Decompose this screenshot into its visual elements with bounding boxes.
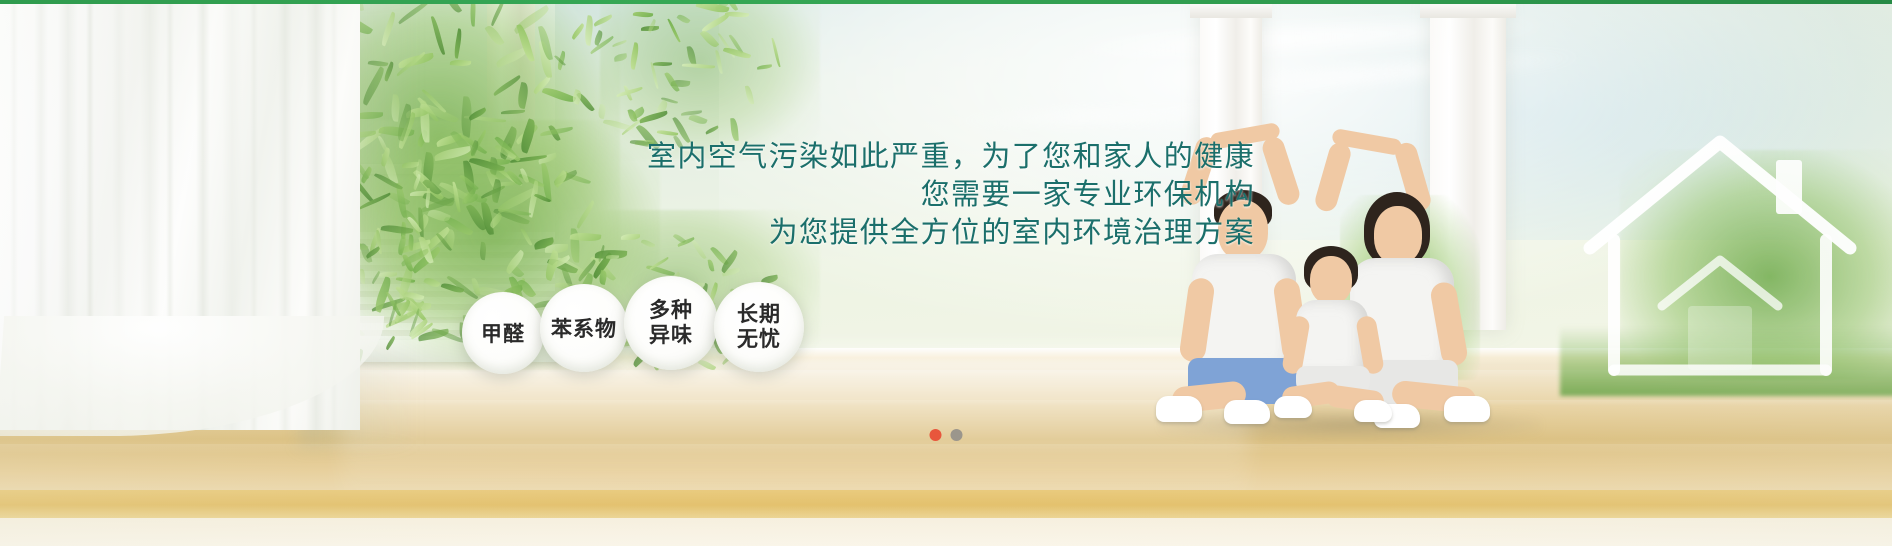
badge-label-line-1: 苯系物	[551, 313, 617, 343]
badge-label-line-1: 长期	[737, 302, 781, 327]
carousel-dots[interactable]	[930, 429, 963, 441]
badge-formaldehyde[interactable]: 甲醛	[462, 292, 544, 374]
headline-block: 室内空气污染如此严重，为了您和家人的健康 您需要一家专业环保机构 为您提供全方位…	[0, 138, 1255, 252]
carousel-dot-2[interactable]	[951, 429, 963, 441]
badge-benzene[interactable]: 苯系物	[540, 284, 628, 372]
badge-label-line-1: 甲醛	[481, 318, 525, 348]
feature-badge-group: 甲醛 苯系物 多种 异味 长期 无忧	[462, 276, 804, 374]
headline-line-3: 为您提供全方位的室内环境治理方案	[0, 214, 1255, 252]
hero-banner: 室内空气污染如此严重，为了您和家人的健康 您需要一家专业环保机构 为您提供全方位…	[0, 0, 1892, 546]
top-accent-rule	[0, 0, 1892, 4]
carousel-dot-1[interactable]	[930, 429, 942, 441]
badge-multiple-odor[interactable]: 多种 异味	[624, 276, 718, 370]
badge-label-line-2: 异味	[649, 323, 693, 348]
badge-label-line-2: 无忧	[737, 327, 781, 352]
child-figure	[1268, 224, 1398, 424]
house-outline-icon	[1570, 120, 1870, 390]
badge-long-term[interactable]: 长期 无忧	[714, 282, 804, 372]
headline-line-1: 室内空气污染如此严重，为了您和家人的健康	[0, 138, 1255, 176]
headline-line-2: 您需要一家专业环保机构	[0, 176, 1255, 214]
bamboo-foliage	[600, 0, 820, 160]
badge-label-line-1: 多种	[649, 298, 693, 323]
